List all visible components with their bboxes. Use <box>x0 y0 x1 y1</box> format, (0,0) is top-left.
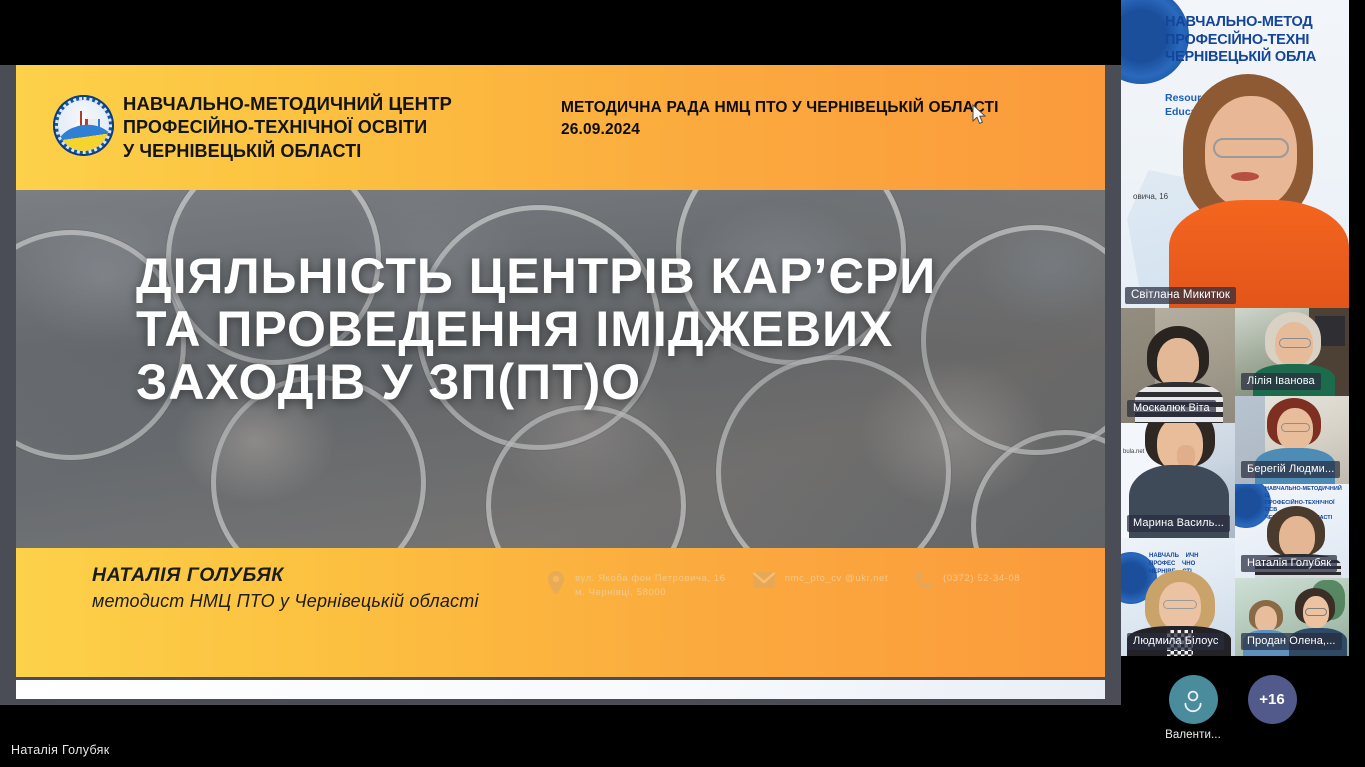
contact-block: вул. Якоба фон Петровича, 16 м. Чернівці… <box>546 570 1085 601</box>
contact-address-text: вул. Якоба фон Петровича, 16 м. Чернівці… <box>575 570 726 601</box>
nmc-pto-emblem-icon <box>53 95 114 156</box>
hero-title-line-1: ДІЯЛЬНІСТЬ ЦЕНТРІВ КАР’ЄРИ <box>136 250 1065 303</box>
meeting-title: МЕТОДИЧНА РАДА НМЦ ПТО У ЧЕРНІВЕЦЬКІЙ ОБ… <box>561 97 999 119</box>
participant-tile[interactable]: НАВЧАЛЬ ИЧНПРОФЕС ЧНОЧЕРНІВЕ СТІ Людмила… <box>1121 538 1235 656</box>
presentation-slide[interactable]: НАВЧАЛЬНО-МЕТОДИЧНИЙ ЦЕНТР ПРОФЕСІЙНО-ТЕ… <box>16 65 1105 680</box>
participant-tile[interactable]: Берегій Людми... <box>1235 396 1349 484</box>
organization-title: НАВЧАЛЬНО-МЕТОДИЧНИЙ ЦЕНТР ПРОФЕСІЙНО-ТЕ… <box>123 92 452 164</box>
active-speaker-label: Наталія Голубяк <box>11 743 109 757</box>
participant-name: Лілія Іванова <box>1241 373 1321 390</box>
org-line-1: НАВЧАЛЬНО-МЕТОДИЧНИЙ ЦЕНТР <box>123 92 452 116</box>
participant-name: Продан Олена,... <box>1241 633 1342 650</box>
participant-name: Берегій Людми... <box>1241 461 1340 478</box>
participant-tile[interactable]: НАВЧАЛЬНО-МЕТОДИЧНИЙ ЦПРОФЕСІЙНО-ТЕХНІЧН… <box>1235 484 1349 578</box>
participant-name: Наталія Голубяк <box>1241 555 1337 572</box>
slide-scroll-strip[interactable]: НАВЧАЛЬНО-МЕТОДИЧНИЙ ЦЕНТР ПРОФЕСІЙНО-ТЕ… <box>0 65 1121 705</box>
video-conference-window: НАВЧАЛЬНО-МЕТОДИЧНИЙ ЦЕНТР ПРОФЕСІЙНО-ТЕ… <box>0 0 1365 767</box>
author-block: НАТАЛІЯ ГОЛУБЯК методист НМЦ ПТО у Черні… <box>92 564 479 612</box>
next-slide-preview[interactable] <box>16 680 1105 702</box>
participant-name: Світлана Микитюк <box>1125 287 1236 304</box>
slide-main-title: ДІЯЛЬНІСТЬ ЦЕНТРІВ КАР’ЄРИ ТА ПРОВЕДЕННЯ… <box>136 250 1065 409</box>
org-line-3: У ЧЕРНІВЕЦЬКІЙ ОБЛАСТІ <box>123 140 452 164</box>
participant-tile[interactable]: Лілія Іванова <box>1235 308 1349 396</box>
overflow-count-badge: +16 <box>1248 675 1297 724</box>
participant-name: Марина Василь... <box>1127 515 1230 532</box>
org-line-2: ПРОФЕСІЙНО-ТЕХНІЧНОЇ ОСВІТИ <box>123 116 452 140</box>
slide-hero-banner: ДІЯЛЬНІСТЬ ЦЕНТРІВ КАР’ЄРИ ТА ПРОВЕДЕННЯ… <box>16 190 1105 548</box>
meeting-heading: МЕТОДИЧНА РАДА НМЦ ПТО У ЧЕРНІВЕЦЬКІЙ ОБ… <box>561 97 999 142</box>
hero-title-line-2: ТА ПРОВЕДЕННЯ ІМІДЖЕВИХ <box>136 303 1065 356</box>
hero-title-line-3: ЗАХОДІВ У ЗП(ПТ)О <box>136 356 1065 409</box>
shared-screen-area[interactable]: НАВЧАЛЬНО-МЕТОДИЧНИЙ ЦЕНТР ПРОФЕСІЙНО-ТЕ… <box>0 0 1121 767</box>
participant-tile[interactable]: bula.net Марина Василь... <box>1121 423 1235 538</box>
address-line-1: вул. Якоба фон Петровича, 16 <box>575 573 726 584</box>
person-avatar-icon <box>1169 675 1218 724</box>
phone-icon <box>914 570 934 595</box>
contact-phone-text: (0372) 52-34-08 <box>943 570 1020 586</box>
address-line-2: м. Чернівці, 58000 <box>575 587 666 598</box>
avatar-overflow-row: Валенти... +16 <box>1121 661 1365 759</box>
contact-address: вул. Якоба фон Петровича, 16 м. Чернівці… <box>546 570 726 601</box>
location-pin-icon <box>546 570 566 599</box>
author-name: НАТАЛІЯ ГОЛУБЯК <box>92 564 479 587</box>
mouse-pointer-icon <box>972 104 988 126</box>
participant-tile[interactable]: НАВЧАЛЬНО-МЕТОДПРОФЕСІЙНО-ТЕХНІЧЕРНІВЕЦЬ… <box>1121 0 1349 308</box>
contact-phone: (0372) 52-34-08 <box>914 570 1020 595</box>
envelope-icon <box>752 570 776 593</box>
participant-tile[interactable]: Продан Олена,... <box>1235 578 1349 656</box>
slide-header: НАВЧАЛЬНО-МЕТОДИЧНИЙ ЦЕНТР ПРОФЕСІЙНО-ТЕ… <box>16 65 1105 190</box>
avatar-participant-name: Валенти... <box>1145 729 1241 741</box>
contact-email-text: nmc_pto_cv @ukr.net <box>785 570 888 586</box>
participant-name: Людмила Білоус <box>1127 633 1224 650</box>
overflow-participants-button[interactable]: +16 <box>1224 675 1320 724</box>
meeting-date: 26.09.2024 <box>561 119 999 141</box>
slide-footer: НАТАЛІЯ ГОЛУБЯК методист НМЦ ПТО у Черні… <box>16 548 1105 680</box>
contact-email: nmc_pto_cv @ukr.net <box>752 570 888 593</box>
author-role: методист НМЦ ПТО у Чернівецькій області <box>92 591 479 612</box>
participant-tile[interactable]: Москалюк Віта <box>1121 308 1235 423</box>
participant-name: Москалюк Віта <box>1127 400 1216 417</box>
participant-rail[interactable]: НАВЧАЛЬНО-МЕТОДПРОФЕСІЙНО-ТЕХНІЧЕРНІВЕЦЬ… <box>1121 0 1365 767</box>
